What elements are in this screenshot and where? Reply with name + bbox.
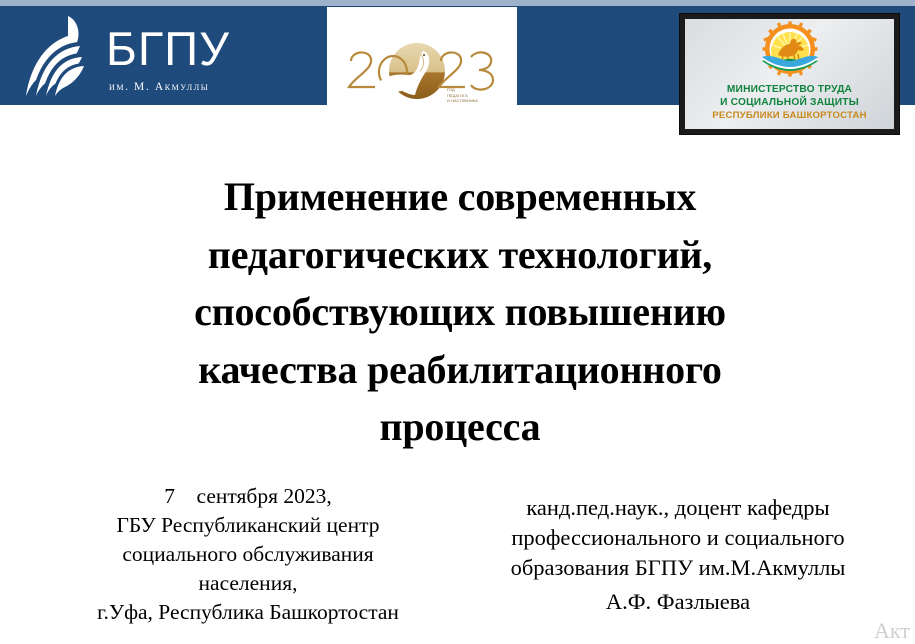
year-caption-line-3: И НАСТАВНИКА <box>447 98 507 104</box>
title-line-1: Применение современных <box>60 168 860 226</box>
year-of-teacher-logo: ГОД ПЕДАГОГА И НАСТАВНИКА <box>327 7 517 105</box>
faint-watermark-text: Акт <box>874 618 910 644</box>
bgpu-subtitle: им. М. Акмуллы <box>109 81 209 93</box>
author-title-line-2: профессионального и социального <box>452 523 904 553</box>
event-org-line-3: населения, <box>38 569 458 598</box>
bgpu-logo: БГПУ им. М. Акмуллы <box>8 7 258 105</box>
slide-title: Применение современных педагогических те… <box>60 168 860 456</box>
ministry-logo-inner: МИНИСТЕРСТВО ТРУДА И СОЦИАЛЬНОЙ ЗАЩИТЫ Р… <box>685 19 894 129</box>
ministry-line-2: И СОЦИАЛЬНОЙ ЗАЩИТЫ <box>685 96 894 109</box>
event-org-line-1: ГБУ Республиканский центр <box>38 511 458 540</box>
event-org-line-2: социального обслуживания <box>38 540 458 569</box>
author-info-block: канд.пед.наук., доцент кафедры профессио… <box>452 493 904 617</box>
bashkortostan-coat-of-arms-icon <box>752 21 828 85</box>
event-city: г.Уфа, Республика Башкортостан <box>38 598 458 627</box>
event-info-block: 7 сентября 2023, ГБУ Республиканский цен… <box>38 482 458 627</box>
title-line-4: качества реабилитационного <box>60 341 860 399</box>
event-date: 7 сентября 2023, <box>38 482 458 511</box>
author-title-line-3: образования БГПУ им.М.Акмуллы <box>452 553 904 583</box>
presentation-slide: БГПУ им. М. Акмуллы <box>0 0 915 639</box>
ministry-logo: МИНИСТЕРСТВО ТРУДА И СОЦИАЛЬНОЙ ЗАЩИТЫ Р… <box>680 14 899 134</box>
author-name: А.Ф. Фазлыева <box>452 587 904 617</box>
title-line-3: способствующих повышению <box>60 283 860 341</box>
title-line-2: педагогических технологий, <box>60 226 860 284</box>
bgpu-swan-wave-mark-icon <box>18 12 104 100</box>
author-title-line-1: канд.пед.наук., доцент кафедры <box>452 493 904 523</box>
ministry-logo-text: МИНИСТЕРСТВО ТРУДА И СОЦИАЛЬНОЙ ЗАЩИТЫ Р… <box>685 83 894 122</box>
title-line-5: процесса <box>60 398 860 456</box>
ministry-line-1: МИНИСТЕРСТВО ТРУДА <box>685 83 894 96</box>
year-logo-caption: ГОД ПЕДАГОГА И НАСТАВНИКА <box>447 87 507 104</box>
ministry-line-3: РЕСПУБЛИКИ БАШКОРТОСТАН <box>685 110 894 122</box>
bgpu-acronym: БГПУ <box>106 25 230 72</box>
